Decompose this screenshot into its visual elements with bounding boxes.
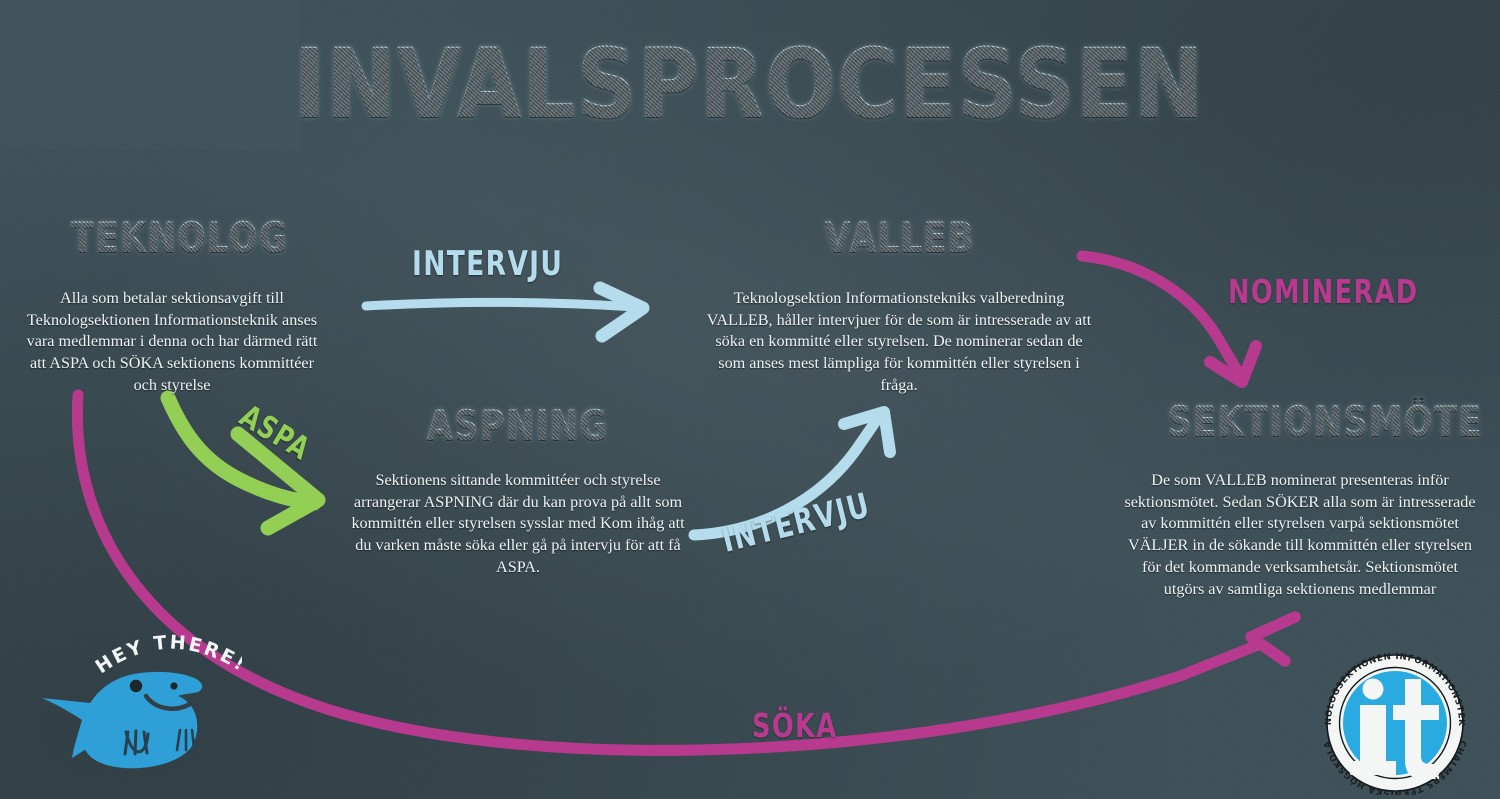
it-section-logo: TEKNOLOGSEKTIONEN INFORMATIONSTEKNIK CHA…: [1317, 645, 1481, 795]
arrow-label-nominerad-text: NOMINERAD: [1228, 272, 1418, 311]
arrow-label-soka-text: SÖKA: [752, 706, 837, 745]
arrow-label-intervju-top: INTERVJU: [412, 244, 606, 284]
section-heading-teknolog-text: TEKNOLOG: [71, 216, 288, 260]
section-heading-aspning-text: ASPNING: [427, 404, 609, 448]
arrow-label-soka: SÖKA: [752, 706, 862, 745]
section-heading-valleb-text: VALLEB: [825, 216, 975, 260]
arrow-label-intervju-bottom-text: INTERVJU: [718, 485, 874, 560]
section-heading-sektionsmote: SEKTIONSMÖTE: [1128, 400, 1464, 444]
arrow-intervju-top: [366, 288, 643, 336]
section-heading-valleb: VALLEB: [740, 216, 1060, 260]
section-heading-teknolog: TEKNOLOG: [20, 216, 340, 260]
arrow-label-intervju-bottom: INTERVJU: [718, 475, 916, 561]
section-body-sektionsmote: De som VALLEB nominerat presenteras infö…: [1122, 470, 1478, 600]
section-body-teknolog: Alla som betalar sektionsavgift till Tek…: [22, 288, 322, 397]
section-heading-aspning: ASPNING: [368, 404, 668, 448]
infographic-poster: INVALSPROCESSEN TEKNOLOG Alla som betala…: [0, 0, 1500, 799]
arrow-label-nominerad: NOMINERAD: [1228, 272, 1472, 311]
section-body-aspning: Sektionens sittande kommittéer och styre…: [348, 470, 688, 579]
poster-title-text: INVALSPROCESSEN: [295, 36, 1206, 132]
whale-mascot-icon: [30, 634, 260, 784]
arrow-label-aspa-text: ASPA: [233, 398, 316, 468]
arrow-label-aspa: ASPA: [233, 398, 334, 479]
section-heading-sektionsmote-text: SEKTIONSMÖTE: [1167, 400, 1483, 444]
arrow-label-intervju-top-text: INTERVJU: [412, 244, 563, 284]
poster-title: INVALSPROCESSEN: [0, 36, 1500, 132]
section-body-valleb: Teknologsektion Informationstekniks valb…: [700, 288, 1098, 397]
